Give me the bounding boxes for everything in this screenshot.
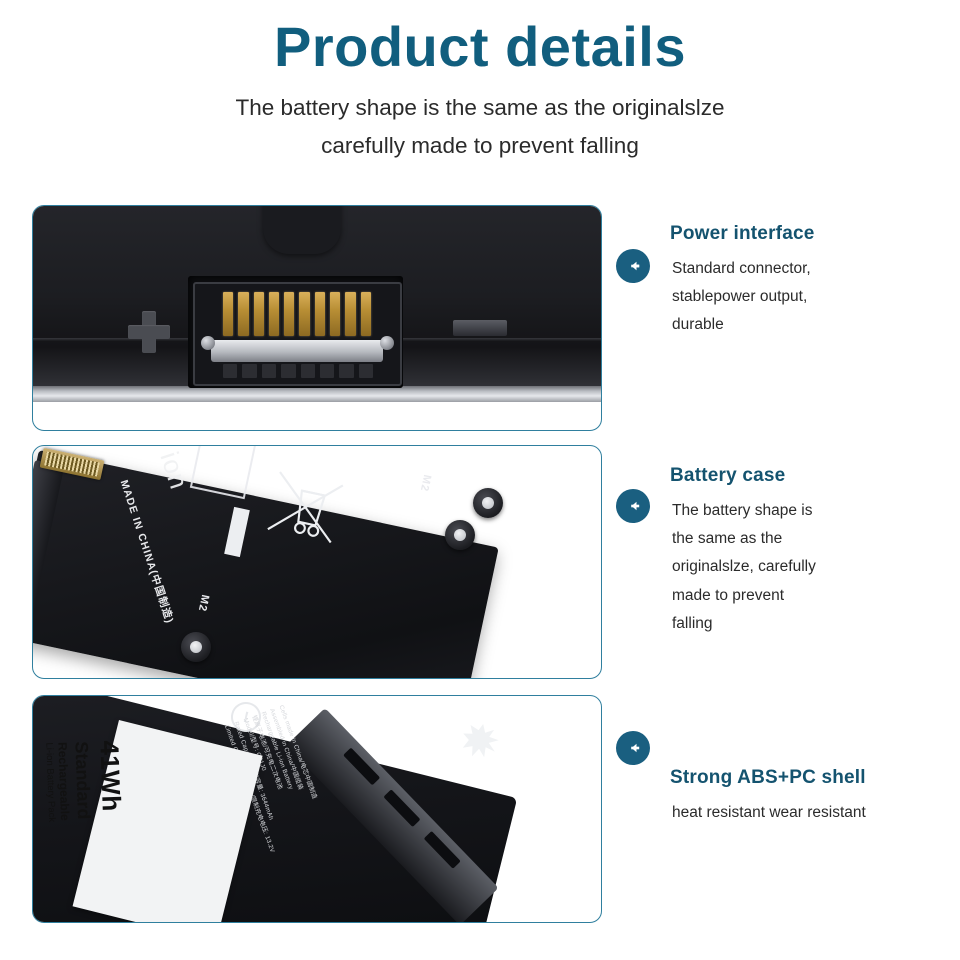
connector-frame <box>193 282 402 386</box>
connector-gold-pins <box>223 292 371 336</box>
callout-battery-case: Battery case The battery shape is the sa… <box>616 445 960 638</box>
callout-body: heat resistant wear resistant <box>670 799 866 827</box>
product-photo-card-case[interactable]: ion MADE IN CHINA(中国制造) M2 M2 <box>32 445 602 679</box>
battery-case-angled: ion MADE IN CHINA(中国制造) M2 M2 <box>33 446 601 678</box>
arrow-left-circle-icon <box>616 731 650 765</box>
feature-section-power-interface: Power interface Standard connector, stab… <box>0 205 960 445</box>
callout-text-block: Battery case The battery shape is the sa… <box>670 451 816 638</box>
callout-body-line: falling <box>672 610 816 638</box>
arrow-left-circle-icon <box>616 489 650 523</box>
connector-screw-right <box>380 336 394 350</box>
callout-title: Power interface <box>670 223 815 245</box>
battery-shell-label: ! Cells made in China/电芯中国制造 Assembled i… <box>33 696 601 922</box>
callout-body-line: made to prevent <box>672 582 816 610</box>
page-title: Product details <box>0 16 960 79</box>
callout-text-block: Power interface Standard connector, stab… <box>670 211 815 340</box>
subtitle-line-1: The battery shape is the same as the ori… <box>0 89 960 128</box>
callout-body: Standard connector, stablepower output, … <box>670 255 815 340</box>
m2-mount-label: M2 <box>418 474 433 493</box>
label-model: Model:G91J0 <box>33 743 37 913</box>
battery-spec-label-text: 41Wh Standard Rechargeable Li-ion Batter… <box>33 740 130 914</box>
page-subtitle: The battery shape is the same as the ori… <box>0 89 960 166</box>
product-photo-card-shell[interactable]: ! Cells made in China/电芯中国制造 Assembled i… <box>32 695 602 923</box>
feature-sections: Power interface Standard connector, stab… <box>0 205 960 935</box>
callout-body-line: durable <box>672 311 815 339</box>
feature-section-abs-pc-shell: ! Cells made in China/电芯中国制造 Assembled i… <box>0 695 960 935</box>
subtitle-line-2: carefully made to prevent falling <box>0 127 960 166</box>
page-header: Product details The battery shape is the… <box>0 0 960 166</box>
mounting-hole <box>445 520 475 550</box>
callout-body-line: originalslze, carefully <box>672 553 816 581</box>
product-photo-card-connector[interactable] <box>32 205 602 431</box>
connector-solder-pads <box>223 364 373 378</box>
callout-body-line: The battery shape is <box>672 497 816 525</box>
callout-body: The battery shape is the same as the ori… <box>670 497 816 638</box>
battery-tab <box>263 206 341 254</box>
callout-body-line: stablepower output, <box>672 283 815 311</box>
battery-slot <box>453 320 507 336</box>
label-capacity: 41Wh <box>93 740 130 911</box>
crossed-wheelie-bin-icon <box>258 465 350 554</box>
power-connector-closeup <box>33 206 601 430</box>
plus-marker-icon <box>128 311 170 353</box>
callout-body-line: Standard connector, <box>672 255 815 283</box>
feature-section-battery-case: ion MADE IN CHINA(中国制造) M2 M2 <box>0 445 960 695</box>
callout-title: Strong ABS+PC shell <box>670 767 866 789</box>
callout-body-line: heat resistant wear resistant <box>672 799 866 827</box>
callout-power-interface: Power interface Standard connector, stab… <box>616 205 960 340</box>
callout-text-block: Strong ABS+PC shell heat resistant wear … <box>670 701 866 827</box>
ink-splatter-icon <box>457 718 505 765</box>
connector-screw-left <box>201 336 215 350</box>
callout-title: Battery case <box>670 465 816 487</box>
arrow-left-circle-icon <box>616 249 650 283</box>
callout-abs-pc-shell: Strong ABS+PC shell heat resistant wear … <box>616 695 960 827</box>
callout-body-line: the same as the <box>672 525 816 553</box>
connector-metal-bar <box>211 340 383 362</box>
mounting-hole <box>181 632 211 662</box>
mounting-hole <box>473 488 503 518</box>
